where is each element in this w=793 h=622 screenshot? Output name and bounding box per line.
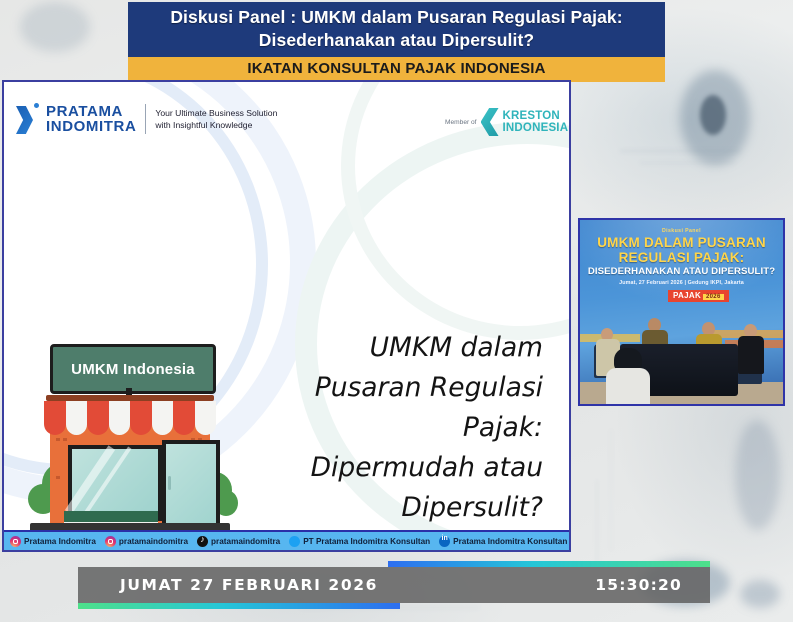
facade-brick	[56, 438, 60, 441]
social-media-bar: Pratama Indomitra pratamaindomitra prata…	[4, 530, 569, 550]
kreston-line1: KRESTON	[503, 110, 569, 123]
wall-texture-smudge	[740, 580, 780, 608]
social-label: PT Pratama Indomitra Konsultan	[303, 537, 430, 546]
shop-sign-post	[126, 388, 132, 395]
audience-member-foreground	[606, 348, 650, 404]
pratama-indomitra-logo: PRATAMA INDOMITRA Your Ultimate Business…	[14, 102, 277, 136]
wall-texture-streak	[610, 430, 612, 550]
social-item[interactable]: Pratama Indomitra	[10, 536, 96, 547]
pratama-logo-wordmark: PRATAMA INDOMITRA	[46, 104, 136, 134]
shop-sign-label: UMKM Indonesia	[71, 361, 195, 378]
kreston-wordmark: KRESTON INDONESIA	[503, 110, 569, 135]
slide-title-block: UMKM dalam Pusaran Regulasi Pajak: Diper…	[243, 328, 543, 552]
linkedin-icon	[439, 536, 450, 547]
pratama-logo-line2: INDOMITRA	[46, 119, 136, 134]
social-label: Pratama Indomitra Konsultan	[453, 537, 567, 546]
program-title-banner: Diskusi Panel : UMKM dalam Pusaran Regul…	[128, 2, 665, 82]
umkm-shop-illustration: UMKM Indonesia	[22, 344, 240, 552]
lower-third-ticker: JUMAT 27 FEBRUARI 2026 15:30:20	[78, 567, 710, 603]
slide-logo-row: PRATAMA INDOMITRA Your Ultimate Business…	[4, 94, 569, 154]
tagline-line2: with Insightful Knowledge	[155, 119, 277, 131]
ticker-date: JUMAT 27 FEBRUARI 2026	[120, 576, 378, 594]
instagram-icon	[105, 536, 116, 547]
pip-kicker-text: Diskusi Panel	[580, 228, 783, 234]
social-item[interactable]: pratamaindomitra	[105, 536, 188, 547]
social-label: pratamaindomitra	[119, 537, 188, 546]
shop-door-handle	[168, 476, 171, 490]
social-item[interactable]: Pratama Indomitra Konsultan	[439, 536, 567, 547]
ticker-accent-gradient-bottom	[78, 603, 400, 609]
tiktok-icon	[197, 536, 208, 547]
pip-headline: UMKM DALAM PUSARAN REGULASI PAJAK:	[580, 236, 783, 265]
shop-awning	[44, 401, 216, 435]
pratama-logo-line1: PRATAMA	[46, 104, 136, 119]
facade-brick	[63, 438, 67, 441]
wall-texture-smudge	[735, 420, 780, 530]
wall-texture-smudge	[20, 2, 90, 52]
pip-headline-line2: REGULASI PAJAK:	[580, 251, 783, 266]
kreston-line2: INDONESIA	[503, 122, 569, 135]
kreston-chevron-icon	[481, 108, 499, 136]
pip-badge-suffix: 2026	[703, 294, 724, 300]
wall-texture-streak	[596, 480, 598, 570]
social-label: Pratama Indomitra	[24, 537, 96, 546]
slide-title-line: Pusaran Regulasi Pajak:	[243, 368, 543, 448]
ticker-clock: 15:30:20	[595, 576, 682, 594]
kreston-member-prefix: Member of	[445, 119, 477, 126]
live-video-thumbnail[interactable]: Diskusi Panel UMKM DALAM PUSARAN REGULAS…	[578, 218, 785, 406]
banner-organizer: IKATAN KONSULTAN PAJAK INDONESIA	[128, 57, 665, 82]
logo-divider	[145, 104, 146, 134]
shop-window	[68, 445, 162, 521]
wall-texture-streak	[620, 150, 740, 152]
pip-date-venue: Jumat, 27 Februari 2026 | Gedung IKPI, J…	[580, 280, 783, 286]
slide-title-line: UMKM dalam	[243, 328, 543, 368]
shop-sign: UMKM Indonesia	[50, 344, 216, 394]
social-label: pratamaindomitra	[211, 537, 280, 546]
wall-texture-smudge	[700, 95, 726, 135]
presentation-slide: PRATAMA INDOMITRA Your Ultimate Business…	[2, 80, 571, 552]
social-item[interactable]: pratamaindomitra	[197, 536, 280, 547]
banner-blue-block: Diskusi Panel : UMKM dalam Pusaran Regul…	[128, 2, 665, 57]
wall-texture-streak	[640, 162, 735, 164]
slide-title-line: Dipermudah atau	[243, 448, 543, 488]
wall-texture-smudge	[680, 70, 750, 165]
banner-title-line2: Disederhanakan atau Dipersulit?	[134, 29, 659, 52]
instagram-icon	[10, 536, 21, 547]
pratama-chevron-icon	[14, 102, 40, 136]
social-item[interactable]: PT Pratama Indomitra Konsultan	[289, 536, 430, 547]
slide-title-line: Dipersulit?	[243, 488, 543, 528]
banner-title-line1: Diskusi Panel : UMKM dalam Pusaran Regul…	[134, 6, 659, 29]
shop-window-sill	[64, 511, 158, 522]
tagline-line1: Your Ultimate Business Solution	[155, 107, 277, 119]
pratama-tagline: Your Ultimate Business Solution with Ins…	[155, 107, 277, 131]
kreston-member-logo: Member of KRESTON INDONESIA	[445, 108, 568, 136]
ticker-accent-gradient-top	[388, 561, 710, 567]
panelist	[738, 324, 764, 374]
pip-sponsor-badge: PAJAK2026	[668, 290, 729, 302]
broadcast-stage: Diskusi Panel : UMKM dalam Pusaran Regul…	[0, 0, 793, 622]
pip-badge-label: PAJAK	[673, 291, 701, 300]
pip-headline-line1: UMKM DALAM PUSARAN	[580, 236, 783, 251]
facade-brick	[56, 476, 60, 479]
pip-subheadline: DISEDERHANAKAN ATAU DIPERSULIT?	[580, 266, 783, 277]
twitter-icon	[289, 536, 300, 547]
